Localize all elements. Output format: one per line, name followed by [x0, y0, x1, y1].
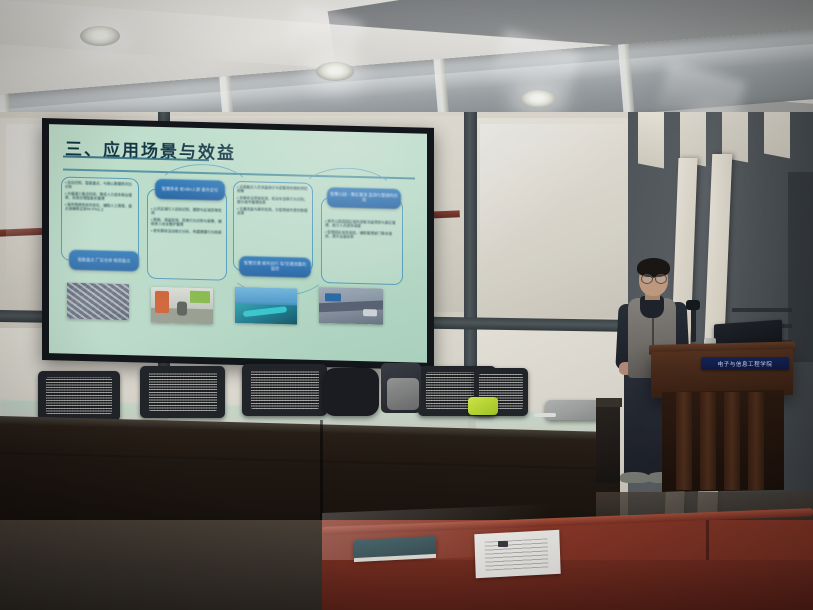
microphone-stand	[691, 306, 696, 342]
chair[interactable]	[38, 371, 120, 421]
bullet-text: 跌倒、滞留检测、异常行为识别与报警，辅助老人安全看护管理	[151, 218, 222, 227]
slide-card-4-bullets: • 城市公园游园区域的游客流量预测与景区管理，助力人员疏导调度 • 智慧园区安防…	[325, 219, 399, 243]
green-plastic-bag[interactable]	[468, 397, 498, 415]
slide-card-1-pill: 智能盘点 厂区仓库 物资盘点	[69, 250, 139, 272]
slide-thumbnail-1	[67, 283, 129, 321]
floor-shadow	[0, 520, 330, 610]
ceiling-downlight	[80, 26, 120, 46]
presenter-leg-left	[624, 370, 647, 476]
side-cabinet-top	[596, 398, 622, 407]
bullet-text: 交通流量与事件检测，为智慧城市提供数据支撑	[237, 207, 308, 215]
black-backpack[interactable]	[323, 368, 379, 416]
bullet-text: 每件物资的实时定位，辅助人工搜索，盘点准确率达到99.9%以上	[65, 203, 132, 212]
gray-bag-panel[interactable]	[387, 378, 419, 410]
bullet-text: 无接触式人员流量统计与密集场所拥挤风险预警	[237, 185, 308, 193]
duct-seam	[618, 44, 635, 115]
slat-top	[764, 112, 790, 159]
side-cabinet	[596, 405, 620, 483]
slide-card-1-bullets: • 自动识别、智能盘点、与核心数据的对比分析 • 大幅减少盘点时间，降低人力成本…	[65, 181, 135, 216]
white-pen[interactable]	[534, 413, 556, 417]
bullet-text: 城市公园游园区域的游客流量预测与景区管理，助力人员疏导调度	[325, 219, 396, 228]
projection-screen: 三、应用场景与效益 • 自动识别、智能盘点、与核心数据的对比分析 • 大幅减少盘…	[49, 124, 427, 363]
slide-thumbnail-4	[319, 287, 383, 325]
slide-card-2-bullets: • 公共区域行人目标识别、跟踪与区域异常检测 • 跌倒、滞留检测、异常行为识别与…	[151, 207, 223, 237]
projection-screen-frame: 三、应用场景与效益 • 自动识别、智能盘点、与核心数据的对比分析 • 大幅减少盘…	[42, 118, 434, 370]
lecture-hall-scene: 三、应用场景与效益 • 自动识别、智能盘点、与核心数据的对比分析 • 大幅减少盘…	[0, 0, 813, 610]
bullet-text: 老年群体活动统计分析，构建健康行为档案	[153, 229, 221, 235]
podium-column	[676, 392, 692, 490]
podium-column	[700, 392, 716, 490]
document-text-lines	[485, 538, 549, 570]
slat-groove	[732, 308, 792, 312]
slide-card-3-bullets: • 无接触式人员流量统计与密集场所拥挤风险预警 • 车辆非法停放检测、机动车违章…	[237, 185, 309, 220]
paper-clip	[498, 541, 508, 547]
bullet-text: 公共区域行人目标识别、跟踪与区域异常检测	[151, 207, 222, 215]
microphone-head	[686, 300, 700, 310]
presenter-shoe-left	[620, 472, 650, 483]
slide-card-3-pill: 智慧交通 城市自行 车/交通流量的监控	[239, 256, 311, 278]
slide-thumbnail-2	[151, 287, 213, 325]
chair-mesh	[149, 372, 217, 410]
bullet-text: 自动识别、智能盘点、与核心数据的对比分析	[65, 181, 132, 189]
wall-frame-vertical	[464, 112, 477, 384]
presenter-glasses-right-lens	[655, 274, 667, 284]
chair-mesh	[46, 377, 112, 414]
slat-panel-dark	[788, 172, 813, 362]
podium-sign: 电子与信息工程学院	[701, 357, 789, 370]
slide-card-4-pill: 智慧公园 - 景区客流 监测与管理的应用	[327, 187, 401, 209]
chair[interactable]	[242, 364, 327, 416]
bullet-text: 车辆非法停放检测、机动车违章行为识别、提升城市管理效率	[237, 196, 308, 205]
wall-panel	[476, 118, 636, 318]
front-desk-lower	[322, 560, 813, 610]
slide-thumbnail-3	[235, 287, 297, 325]
presenter-glasses-left-lens	[641, 274, 653, 284]
podium-column	[748, 392, 764, 490]
podium-column	[724, 392, 740, 490]
bullet-text: 智慧园区安防巡检，辅助管理部门降本增效，提升运营效率	[325, 230, 392, 239]
bullet-text: 大幅减少盘点时间，降低人力成本和出错率，实现仓储智能化管理	[65, 192, 132, 201]
chair[interactable]	[140, 366, 225, 418]
slide-card-2-pill: 智慧养老 老năm人群 意外定位	[155, 179, 225, 201]
slat-top	[638, 112, 664, 169]
presenter-hair	[637, 258, 670, 277]
chair-mesh	[251, 370, 319, 408]
printed-document[interactable]	[474, 530, 560, 578]
presenter-glasses-bridge	[651, 277, 655, 278]
